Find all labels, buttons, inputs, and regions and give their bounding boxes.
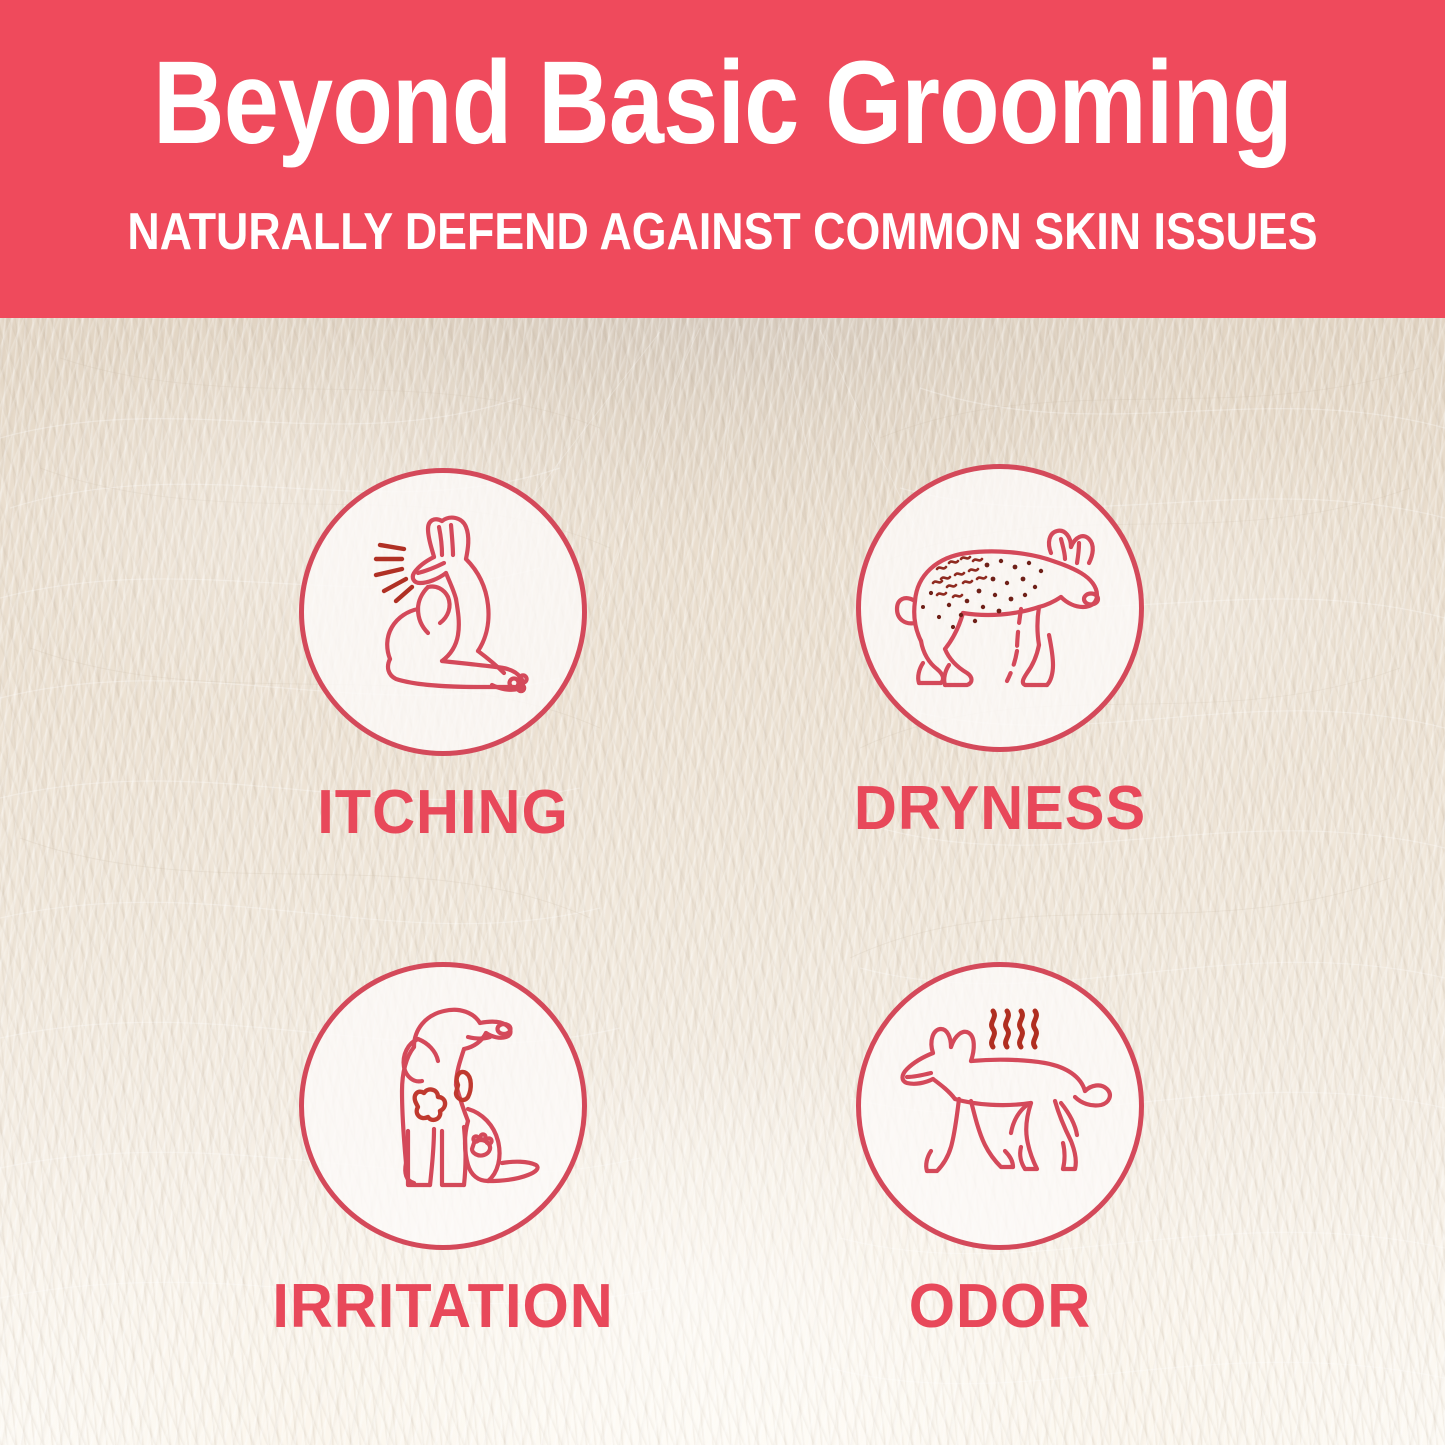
benefit-item-odor: ODOR bbox=[790, 962, 1210, 1340]
benefit-label-irritation: IRRITATION bbox=[241, 1274, 644, 1340]
benefit-label-odor: ODOR bbox=[798, 1274, 1201, 1340]
dog-odor-icon bbox=[875, 981, 1125, 1231]
dog-dandruff-icon bbox=[875, 483, 1125, 733]
badge-irritation bbox=[299, 962, 587, 1250]
header-banner: Beyond Basic Grooming NATURALLY DEFEND A… bbox=[0, 0, 1445, 318]
dog-irritated-skin-icon bbox=[318, 981, 568, 1231]
benefit-label-dryness: DRYNESS bbox=[798, 776, 1201, 842]
benefit-grid: ITCHING bbox=[0, 318, 1445, 1445]
benefit-label-itching: ITCHING bbox=[241, 780, 644, 846]
badge-dryness bbox=[856, 464, 1144, 752]
benefit-item-itching: ITCHING bbox=[233, 468, 653, 846]
benefit-item-irritation: IRRITATION bbox=[233, 962, 653, 1340]
dog-scratching-icon bbox=[318, 487, 568, 737]
badge-odor bbox=[856, 962, 1144, 1250]
benefit-item-dryness: DRYNESS bbox=[790, 464, 1210, 842]
badge-itching bbox=[299, 468, 587, 756]
page-subtitle: NATURALLY DEFEND AGAINST COMMON SKIN ISS… bbox=[101, 204, 1344, 260]
page-title: Beyond Basic Grooming bbox=[116, 44, 1330, 162]
poster-root: Beyond Basic Grooming NATURALLY DEFEND A… bbox=[0, 0, 1445, 1445]
